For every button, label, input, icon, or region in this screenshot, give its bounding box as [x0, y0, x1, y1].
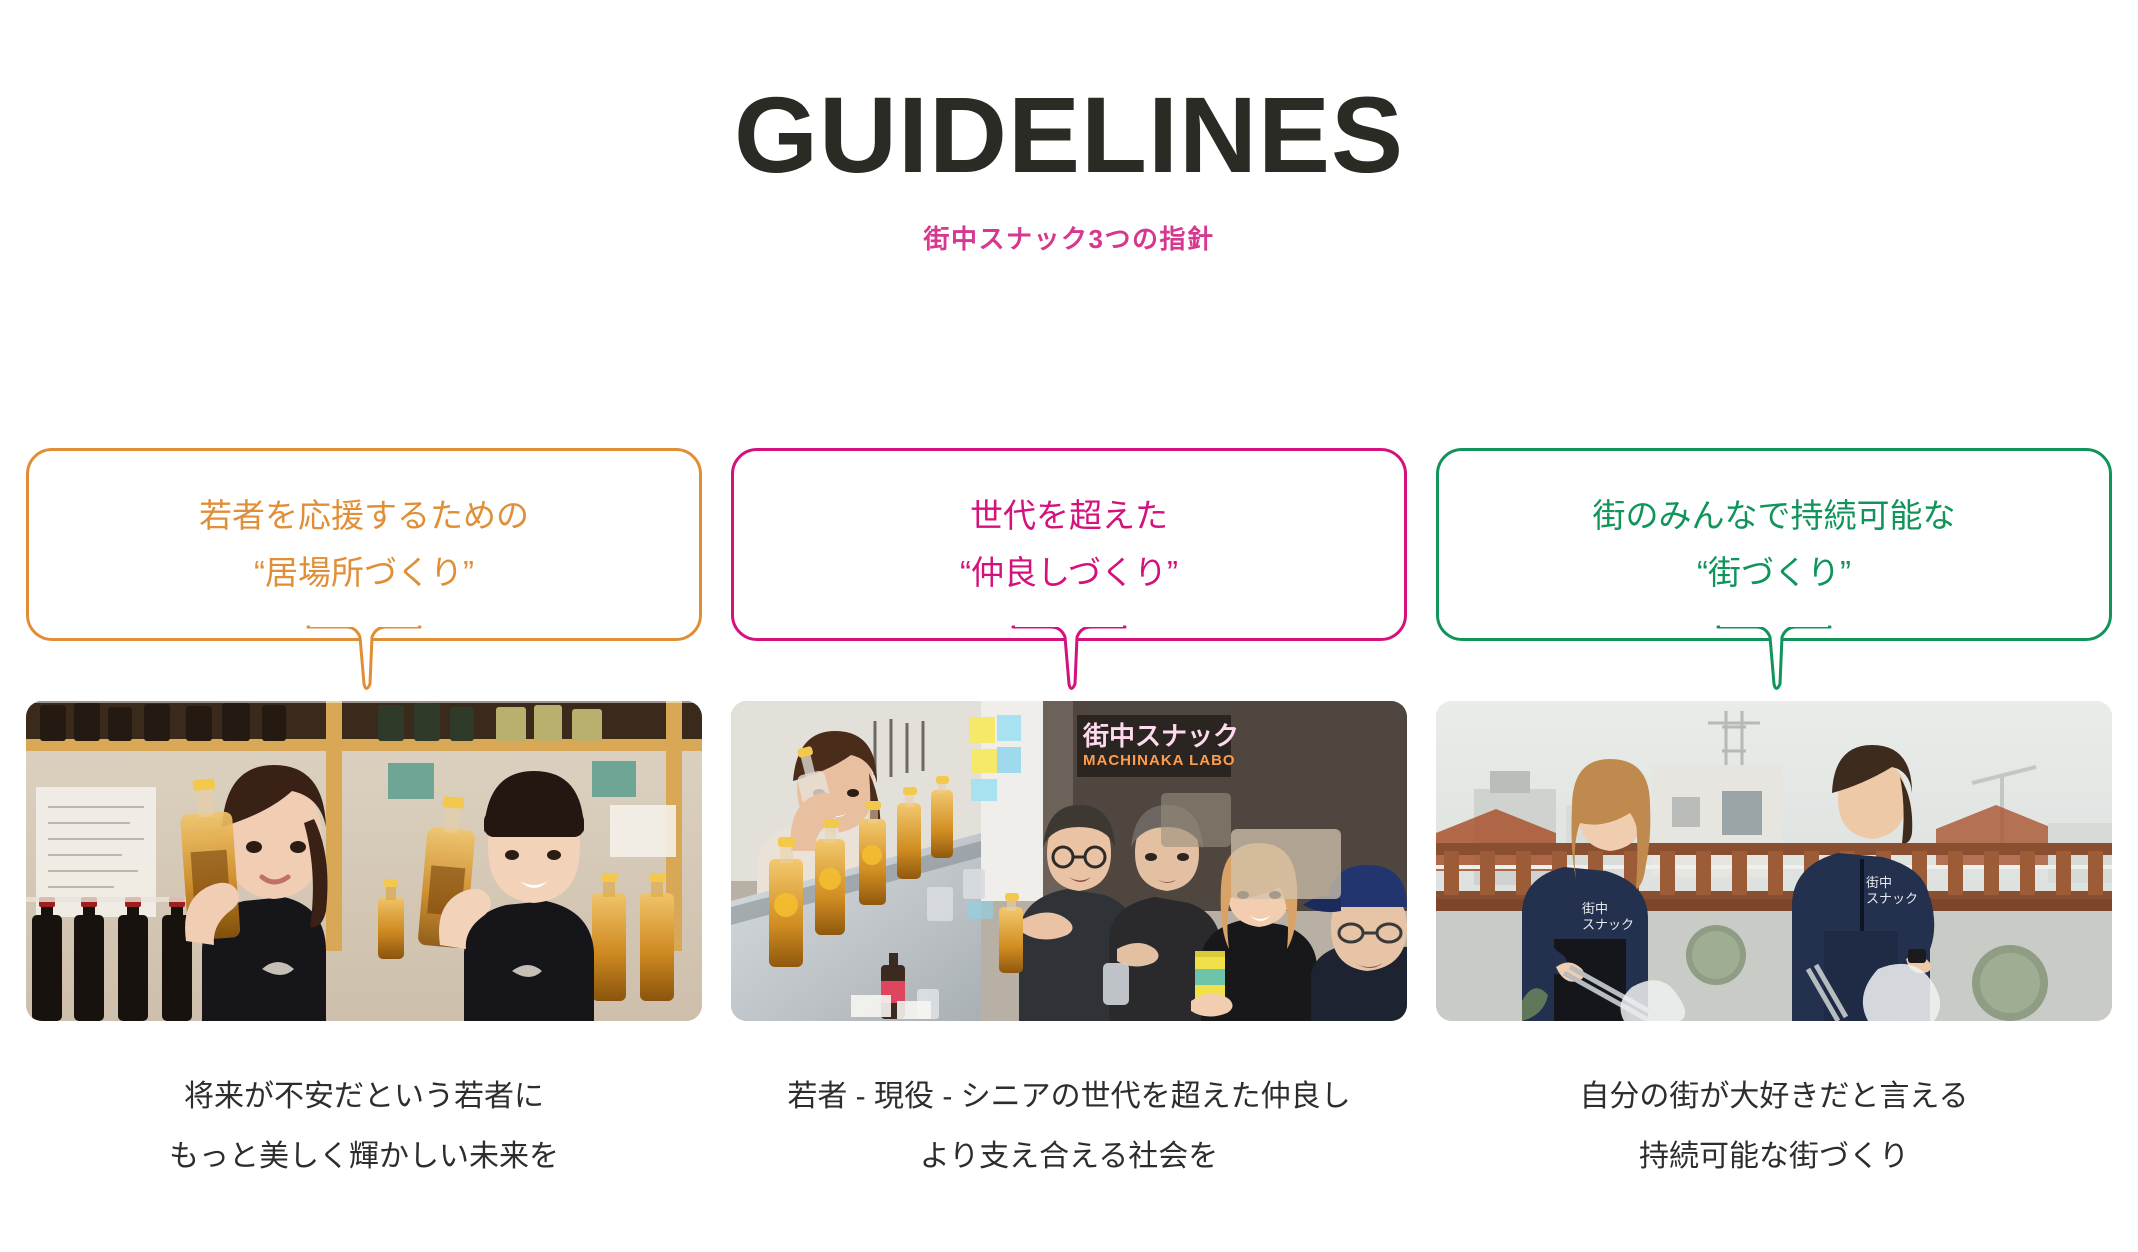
guideline-column-2: 世代を超えた “仲良しづくり” [731, 448, 1407, 1187]
photo-illustration-cleanup: 街中 スナック [1436, 701, 2112, 1021]
bubble-line-1a: 若者を応援するための [199, 488, 529, 545]
caption-line-2b: より支え合える社会を [787, 1127, 1350, 1187]
svg-text:街中スナック: 街中スナック [1082, 721, 1239, 751]
bubble-line-3a: 街のみんなで持続可能な [1593, 488, 1956, 545]
bubble-body-3: 街のみんなで持続可能な “街づくり” [1436, 448, 2112, 641]
caption-line-1b: もっと美しく輝かしい未来を [169, 1127, 559, 1187]
bubble-line-1b: “居場所づくり” [254, 545, 474, 602]
guideline-caption-2: 若者 - 現役 - シニアの世代を超えた仲良し より支え合える社会を [787, 1067, 1350, 1187]
svg-text:街中: 街中 [1582, 901, 1608, 916]
page-title: GUIDELINES [0, 78, 2138, 191]
guideline-caption-3: 自分の街が大好きだと言える 持続可能な街づくり [1579, 1067, 1968, 1187]
guideline-photo-2: 街中スナック MACHINAKA LABO [731, 701, 1407, 1021]
speech-bubble-3: 街のみんなで持続可能な “街づくり” [1436, 448, 2112, 701]
guideline-column-1: 若者を応援するための “居場所づくり” [26, 448, 702, 1187]
photo-illustration-bar: 街中スナック MACHINAKA LABO [731, 701, 1407, 1021]
guideline-column-3: 街のみんなで持続可能な “街づくり” [1436, 448, 2112, 1187]
caption-line-2a: 若者 - 現役 - シニアの世代を超えた仲良し [787, 1067, 1350, 1127]
svg-text:スナック: スナック [1866, 891, 1918, 906]
svg-text:MACHINAKA LABO: MACHINAKA LABO [1083, 752, 1236, 769]
guideline-photo-3: 街中 スナック [1436, 701, 2112, 1021]
bubble-line-2a: 世代を超えた [970, 488, 1168, 545]
caption-line-3a: 自分の街が大好きだと言える [1579, 1067, 1968, 1127]
bubble-body-1: 若者を応援するための “居場所づくり” [26, 448, 702, 641]
page-subtitle: 街中スナック3つの指針 [0, 219, 2138, 256]
caption-line-3b: 持続可能な街づくり [1579, 1127, 1968, 1187]
svg-text:スナック: スナック [1582, 917, 1634, 932]
guideline-photo-1 [26, 701, 702, 1021]
caption-line-1a: 将来が不安だという若者に [169, 1067, 559, 1127]
guideline-columns: 若者を応援するための “居場所づくり” [0, 448, 2138, 1187]
speech-bubble-1: 若者を応援するための “居場所づくり” [26, 448, 702, 701]
bubble-tail-icon [1009, 624, 1129, 698]
bubble-tail-icon [304, 624, 424, 698]
guideline-caption-1: 将来が不安だという若者に もっと美しく輝かしい未来を [169, 1067, 559, 1187]
speech-bubble-2: 世代を超えた “仲良しづくり” [731, 448, 1407, 701]
bubble-body-2: 世代を超えた “仲良しづくり” [731, 448, 1407, 641]
guidelines-page: GUIDELINES 街中スナック3つの指針 若者を応援するための “居場所づく… [0, 0, 2138, 1252]
bubble-line-3b: “街づくり” [1697, 545, 1851, 602]
bubble-tail-icon [1714, 624, 1834, 698]
page-header: GUIDELINES 街中スナック3つの指針 [0, 0, 2138, 256]
svg-text:街中: 街中 [1866, 875, 1892, 890]
bubble-line-2b: “仲良しづくり” [960, 545, 1178, 602]
neon-sign: 街中スナック MACHINAKA LABO [1077, 715, 1239, 777]
photo-illustration-shop [26, 701, 702, 1021]
